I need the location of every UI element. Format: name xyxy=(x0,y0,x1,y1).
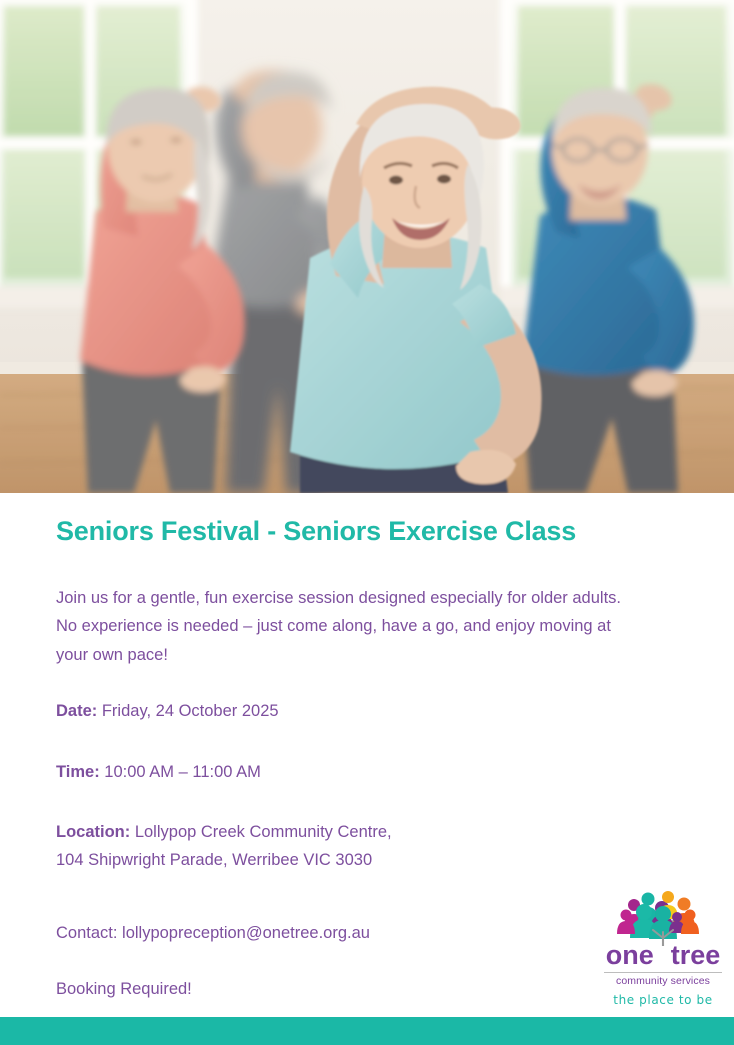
hero-photo-illustration xyxy=(0,0,734,493)
date-value: Friday, 24 October 2025 xyxy=(97,702,278,720)
booking-required-note: Booking Required! xyxy=(56,947,678,1003)
contact-line[interactable]: Contact: lollypopreception@onetree.org.a… xyxy=(56,875,678,947)
onetree-logo: onetree community services the place to … xyxy=(600,888,726,1007)
logo-wordmark: onetree xyxy=(600,942,726,969)
logo-word-one: one xyxy=(606,940,654,970)
logo-divider xyxy=(604,972,722,973)
location-value: Lollypop Creek Community Centre, xyxy=(130,823,391,841)
hero-photo xyxy=(0,0,734,493)
date-line: Date: Friday, 24 October 2025 xyxy=(56,669,678,725)
location-label: Location: xyxy=(56,823,130,841)
logo-subtitle: community services xyxy=(600,975,726,988)
intro-paragraph: Join us for a gentle, fun exercise sessi… xyxy=(56,547,628,669)
page-title: Seniors Festival - Seniors Exercise Clas… xyxy=(56,493,678,547)
location-line: Location: Lollypop Creek Community Centr… xyxy=(56,786,678,846)
date-label: Date: xyxy=(56,702,97,720)
poster: Seniors Festival - Seniors Exercise Clas… xyxy=(0,0,734,1045)
logo-word-tree: tree xyxy=(671,940,721,970)
poster-content: Seniors Festival - Seniors Exercise Clas… xyxy=(0,493,734,1045)
time-value: 10:00 AM – 11:00 AM xyxy=(100,763,261,781)
tree-icon xyxy=(600,888,726,946)
onetree-tree-graphic xyxy=(600,888,726,946)
footer-bar xyxy=(0,1017,734,1045)
logo-tagline: the place to be xyxy=(600,993,726,1007)
location-line-2: 104 Shipwright Parade, Werribee VIC 3030 xyxy=(56,846,678,874)
time-line: Time: 10:00 AM – 11:00 AM xyxy=(56,726,678,786)
time-label: Time: xyxy=(56,763,100,781)
